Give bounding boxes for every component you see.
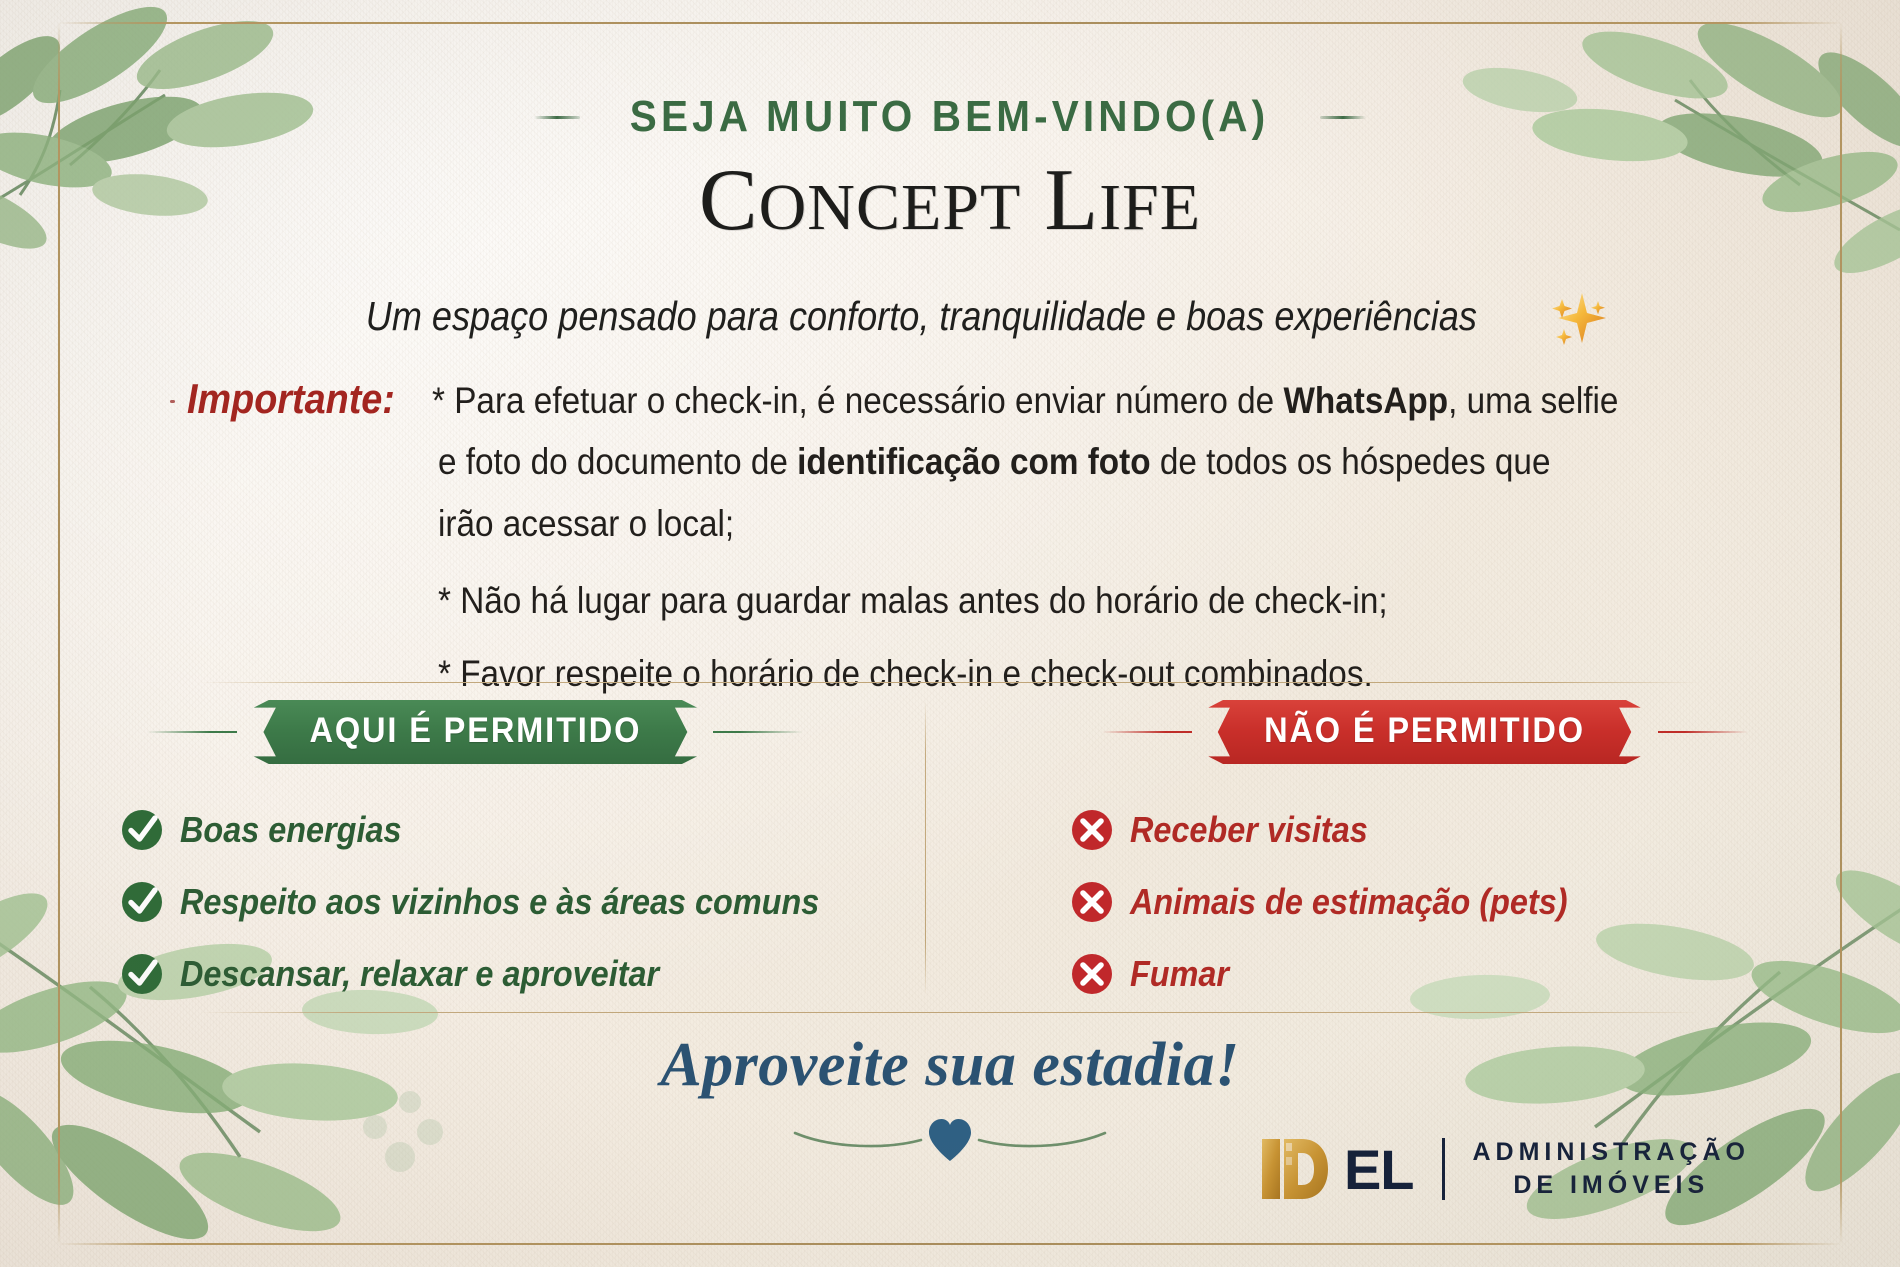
list-item: Receber visitas <box>1070 808 1842 852</box>
swash-left-icon <box>793 1129 923 1151</box>
forbidden-title: NÃO É PERMITIDO <box>1209 700 1641 764</box>
footer-message: Aproveite sua estadia! <box>0 1030 1900 1101</box>
forbidden-rule-right <box>1658 731 1748 733</box>
important-block: Importante: * Para efetuar o check-in, é… <box>170 375 1750 698</box>
company-logo: EL ADMINISTRAÇÃO DE IMÓVEIS <box>1258 1133 1750 1205</box>
welcome-rule-right <box>1320 116 1366 119</box>
allowed-list: Boas energias Respeito aos vizinhos e às… <box>58 808 892 996</box>
list-item: Descansar, relaxar e aproveitar <box>120 952 892 996</box>
important-bullet-3: * Favor respeite o horário de check-in e… <box>438 650 1619 697</box>
x-circle-icon <box>1070 808 1114 852</box>
title-ife: IFE <box>1099 171 1201 244</box>
welcome-banner: SEJA MUITO BEM-VINDO(A) <box>0 92 1900 142</box>
list-item: Animais de estimação (pets) <box>1070 880 1842 924</box>
title-oncept: ONCEPT <box>759 171 1022 244</box>
important-bullets: * Não há lugar para guardar malas antes … <box>438 577 1750 698</box>
title-c: C <box>699 152 759 249</box>
forbidden-header: NÃO É PERMITIDO <box>1008 700 1842 764</box>
welcome-poster: SEJA MUITO BEM-VINDO(A) CONCEPT LIFE Um … <box>0 0 1900 1267</box>
check-circle-icon <box>120 880 164 924</box>
rules-columns: AQUI É PERMITIDO Boas energias <box>0 700 1900 1024</box>
welcome-text: SEJA MUITO BEM-VINDO(A) <box>630 92 1269 142</box>
forbidden-item-label: Animais de estimação (pets) <box>1130 881 1568 923</box>
imp-l1-b: , uma selfie <box>1448 380 1618 421</box>
list-item: Fumar <box>1070 952 1842 996</box>
allowed-item-label: Descansar, relaxar e aproveitar <box>180 953 659 995</box>
allowed-title: AQUI É PERMITIDO <box>253 700 696 764</box>
forbidden-column: NÃO É PERMITIDO Receber visitas <box>950 700 1900 1024</box>
title-l: L <box>1044 152 1099 249</box>
del-building-mark-icon <box>1258 1133 1332 1205</box>
allowed-rule-right <box>713 731 803 733</box>
frame-line-bottom <box>58 1243 1842 1245</box>
logo-tagline: ADMINISTRAÇÃO DE IMÓVEIS <box>1473 1136 1751 1202</box>
x-circle-icon <box>1070 880 1114 924</box>
forbidden-rule-left <box>1102 731 1192 733</box>
heart-icon <box>927 1118 973 1162</box>
allowed-column: AQUI É PERMITIDO Boas energias <box>0 700 950 1024</box>
section-divider-top <box>200 682 1700 683</box>
sparkles-icon <box>1546 285 1610 347</box>
list-item: Respeito aos vizinhos e às áreas comuns <box>120 880 892 924</box>
page-title: CONCEPT LIFE <box>0 150 1900 251</box>
important-continuation: e foto do documento de identificação com… <box>438 438 1750 547</box>
important-dash <box>170 400 175 403</box>
forbidden-list: Receber visitas Animais de estimação (pe… <box>1008 808 1842 996</box>
important-line-3: irão acessar o local; <box>438 500 1619 547</box>
subtitle-row: Um espaço pensado para conforto, tranqui… <box>0 285 1900 347</box>
allowed-header: AQUI É PERMITIDO <box>58 700 892 764</box>
allowed-item-label: Boas energias <box>180 809 402 851</box>
frame-line-top <box>58 22 1842 24</box>
imp-l1-bold: WhatsApp <box>1283 380 1448 421</box>
check-circle-icon <box>120 808 164 852</box>
subtitle-text: Um espaço pensado para conforto, tranqui… <box>365 293 1476 340</box>
forbidden-item-label: Fumar <box>1130 953 1229 995</box>
important-line-1: * Para efetuar o check-in, é necessário … <box>432 377 1618 424</box>
imp-l1-a: * Para efetuar o check-in, é necessário … <box>432 380 1283 421</box>
imp-l2-b: de todos os hóspedes que <box>1151 441 1551 482</box>
welcome-rule-left <box>534 116 580 119</box>
imp-l2-a: e foto do documento de <box>438 441 797 482</box>
logo-wordmark: EL <box>1344 1137 1414 1202</box>
swash-right-icon <box>977 1129 1107 1151</box>
check-circle-icon <box>120 952 164 996</box>
logo-tagline-line-1: ADMINISTRAÇÃO <box>1473 1136 1751 1169</box>
logo-divider <box>1442 1138 1445 1200</box>
imp-l2-bold: identificação com foto <box>797 441 1150 482</box>
logo-tagline-line-2: DE IMÓVEIS <box>1473 1169 1751 1202</box>
allowed-item-label: Respeito aos vizinhos e às áreas comuns <box>180 881 819 923</box>
important-label: Importante: <box>187 375 395 423</box>
forbidden-item-label: Receber visitas <box>1130 809 1368 851</box>
x-circle-icon <box>1070 952 1114 996</box>
important-line-2: e foto do documento de identificação com… <box>438 438 1619 485</box>
important-first-line: Importante: * Para efetuar o check-in, é… <box>170 375 1750 424</box>
allowed-rule-left <box>147 731 237 733</box>
list-item: Boas energias <box>120 808 892 852</box>
important-bullet-2: * Não há lugar para guardar malas antes … <box>438 577 1619 624</box>
